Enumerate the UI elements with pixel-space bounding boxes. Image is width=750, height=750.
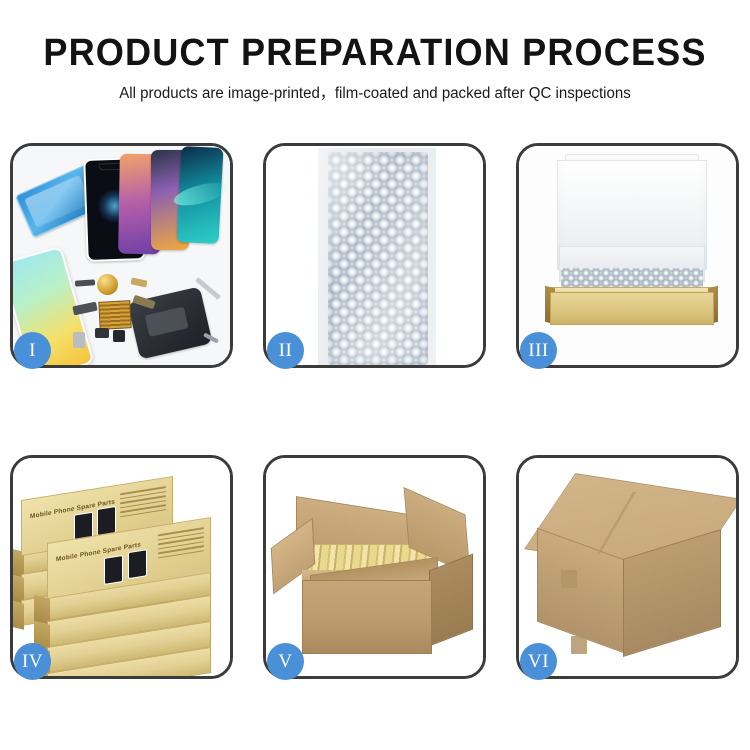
step-badge-6: VI — [520, 643, 557, 680]
step-badge-4: IV — [14, 643, 51, 680]
box-artwork-screen — [128, 549, 147, 579]
step-badge-2: II — [267, 332, 304, 369]
stacked-box-side — [13, 600, 24, 630]
teal-phone-display — [177, 146, 224, 244]
step-panel-2[interactable]: II Each screen individually wrapped in c… — [263, 143, 486, 368]
step-panel-4[interactable]: Mobile Phone Spare Parts Mobile Phone Sp… — [10, 455, 233, 679]
step-image-2 — [266, 146, 483, 365]
step-image-5 — [266, 458, 483, 676]
step-image-1 — [13, 146, 230, 365]
step-panel-6[interactable]: VI Carton taped and sealed, ready for sh… — [516, 455, 739, 679]
step-badge-5: V — [267, 643, 304, 680]
step-image-3 — [519, 146, 736, 365]
speaker-coil-part — [97, 274, 118, 295]
carton-tape-mark — [571, 636, 587, 654]
gold-chip-part — [98, 300, 131, 330]
small-module-part — [95, 328, 109, 338]
box-spec-lines — [120, 486, 166, 523]
bubble-wrapped-screen — [328, 152, 428, 365]
page-title: PRODUCT PREPARATION PROCESS — [19, 30, 732, 76]
step-panel-3[interactable]: III Bubble-wrapped units placed into a w… — [516, 143, 739, 368]
box-artwork-screen — [104, 555, 123, 585]
carton-front-face — [302, 580, 432, 654]
sim-tray-part — [73, 332, 85, 348]
page-subtitle: All products are image-printed，film-coat… — [11, 84, 739, 104]
camera-module-part — [113, 330, 125, 342]
step-panel-5[interactable]: V Kraft boxes loaded into an open brown … — [263, 455, 486, 679]
step-badge-1: I — [14, 332, 51, 369]
step-badge-3: III — [520, 332, 557, 369]
inner-box-front-face — [550, 292, 714, 325]
step-image-6 — [519, 458, 736, 676]
step-panel-1[interactable]: I Mobile phone LCD screens, display asse… — [10, 143, 233, 368]
carton-tape-mark — [561, 570, 577, 588]
box-spec-lines — [158, 527, 204, 564]
step-image-4: Mobile Phone Spare Parts Mobile Phone Sp… — [13, 458, 230, 676]
